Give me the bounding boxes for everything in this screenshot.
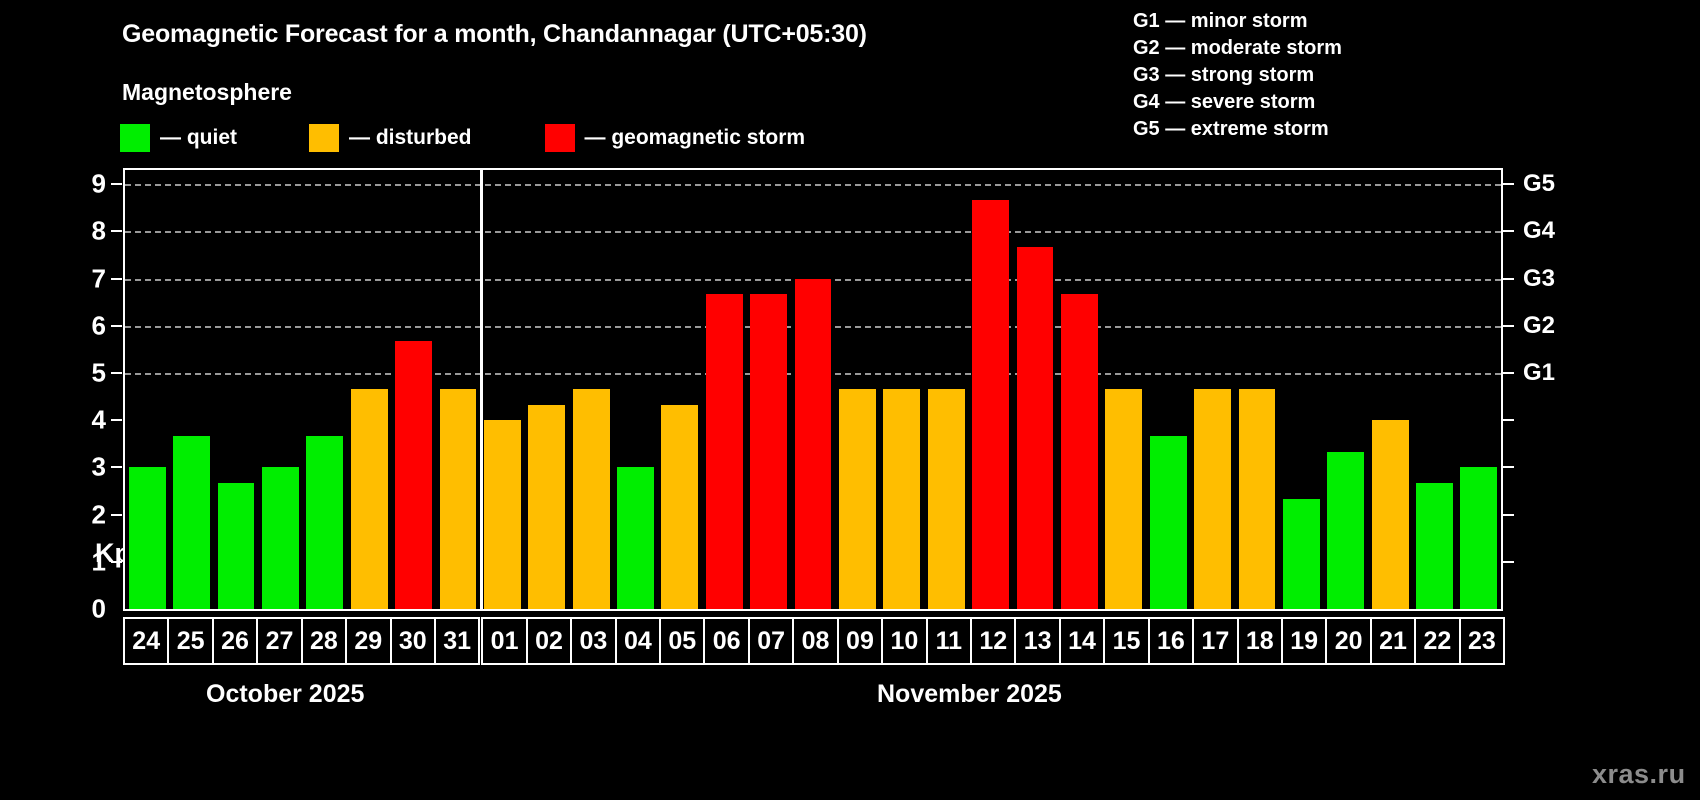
g-axis-minor-tick-3: [1503, 466, 1514, 468]
date-label: 23: [1468, 627, 1496, 656]
legend-swatch-storm: [545, 124, 575, 152]
date-label: 07: [757, 627, 785, 656]
date-label: 12: [979, 627, 1007, 656]
bar-cell: [1057, 170, 1101, 609]
bar-21[interactable]: [1372, 420, 1409, 609]
month-divider: [480, 170, 483, 609]
y-tick-label-0: 0: [92, 594, 106, 625]
bar-cell: [303, 170, 347, 609]
date-cell-08[interactable]: 08: [792, 617, 838, 665]
date-cell-01[interactable]: 01: [481, 617, 527, 665]
date-cell-06[interactable]: 06: [703, 617, 749, 665]
g-tick-mark-G3: [1503, 278, 1514, 280]
bar-20[interactable]: [1327, 452, 1364, 609]
g-tick-mark-G2: [1503, 325, 1514, 327]
bar-04[interactable]: [617, 467, 654, 609]
y-tick-mark-2: [111, 514, 122, 516]
chart-plot-area: [123, 168, 1503, 611]
bar-18[interactable]: [1239, 389, 1276, 609]
date-label: 28: [310, 627, 338, 656]
g-scale-row-g3: G3 — strong storm: [1133, 62, 1342, 89]
date-label: 10: [890, 627, 918, 656]
magnetosphere-label: Magnetosphere: [122, 79, 292, 106]
bar-15[interactable]: [1105, 389, 1142, 609]
date-cell-15[interactable]: 15: [1103, 617, 1149, 665]
legend-label-disturbed: — disturbed: [349, 126, 472, 150]
y-tick-label-8: 8: [92, 216, 106, 247]
date-cell-03[interactable]: 03: [570, 617, 616, 665]
y-tick-label-2: 2: [92, 499, 106, 530]
date-cell-17[interactable]: 17: [1192, 617, 1238, 665]
bar-cell: [1146, 170, 1190, 609]
date-label: 08: [802, 627, 830, 656]
bar-08[interactable]: [795, 279, 832, 609]
y-tick-mark-4: [111, 419, 122, 421]
date-cell-28[interactable]: 28: [301, 617, 347, 665]
date-cell-23[interactable]: 23: [1459, 617, 1505, 665]
bar-31[interactable]: [440, 389, 477, 609]
bar-10[interactable]: [883, 389, 920, 609]
bar-cell: [1412, 170, 1456, 609]
date-cell-02[interactable]: 02: [526, 617, 572, 665]
date-cell-13[interactable]: 13: [1014, 617, 1060, 665]
y-tick-label-3: 3: [92, 452, 106, 483]
bar-cell: [347, 170, 391, 609]
legend-swatch-disturbed: [309, 124, 339, 152]
bar-cell: [391, 170, 435, 609]
bar-cell: [880, 170, 924, 609]
date-cell-05[interactable]: 05: [659, 617, 705, 665]
bar-05[interactable]: [661, 405, 698, 609]
legend-swatch-quiet: [120, 124, 150, 152]
bar-cell: [525, 170, 569, 609]
date-label: 14: [1068, 627, 1096, 656]
month-caption-november: November 2025: [877, 680, 1062, 709]
g-scale-row-g5: G5 — extreme storm: [1133, 116, 1342, 143]
y-tick-label-1: 1: [92, 546, 106, 577]
date-cell-21[interactable]: 21: [1370, 617, 1416, 665]
date-label: 30: [399, 627, 427, 656]
date-label: 29: [354, 627, 382, 656]
bar-27[interactable]: [262, 467, 299, 609]
bar-cell: [924, 170, 968, 609]
legend-label-quiet: — quiet: [160, 126, 237, 150]
date-label: 26: [221, 627, 249, 656]
date-cell-30[interactable]: 30: [390, 617, 436, 665]
y-tick-mark-9: [111, 183, 122, 185]
date-cell-27[interactable]: 27: [256, 617, 302, 665]
g-tick-label-G2: G2: [1523, 312, 1555, 340]
watermark: xras.ru: [1592, 759, 1686, 790]
bar-series: [125, 170, 1501, 609]
date-label: 13: [1024, 627, 1052, 656]
legend-item-storm[interactable]: — geomagnetic storm: [545, 123, 806, 153]
date-cell-16[interactable]: 16: [1148, 617, 1194, 665]
bar-cell: [169, 170, 213, 609]
date-label: 24: [132, 627, 160, 656]
bar-11[interactable]: [928, 389, 965, 609]
bar-23[interactable]: [1460, 467, 1497, 609]
bar-cell: [1324, 170, 1368, 609]
legend-item-disturbed[interactable]: — disturbed: [309, 123, 472, 153]
date-label: 15: [1113, 627, 1141, 656]
g-axis-minor-tick-4: [1503, 419, 1514, 421]
y-tick-label-5: 5: [92, 357, 106, 388]
date-label: 21: [1379, 627, 1407, 656]
g-tick-mark-G4: [1503, 230, 1514, 232]
bar-cell: [258, 170, 302, 609]
g-scale-legend: G1 — minor storm G2 — moderate storm G3 …: [1133, 8, 1342, 143]
date-label: 22: [1424, 627, 1452, 656]
bar-13[interactable]: [1017, 247, 1054, 609]
date-label: 19: [1290, 627, 1318, 656]
date-label: 17: [1201, 627, 1229, 656]
date-label: 06: [713, 627, 741, 656]
date-cell-10[interactable]: 10: [881, 617, 927, 665]
date-cell-12[interactable]: 12: [970, 617, 1016, 665]
g-scale-row-g2: G2 — moderate storm: [1133, 35, 1342, 62]
bar-29[interactable]: [351, 389, 388, 609]
y-tick-label-6: 6: [92, 310, 106, 341]
bar-22[interactable]: [1416, 483, 1453, 609]
y-tick-mark-3: [111, 466, 122, 468]
g-axis-minor-tick-2: [1503, 514, 1514, 516]
bar-26[interactable]: [218, 483, 255, 609]
date-axis: 2425262728293031010203040506070809101112…: [123, 617, 1503, 665]
bar-cell: [702, 170, 746, 609]
bar-12[interactable]: [972, 200, 1009, 609]
y-tick-mark-8: [111, 230, 122, 232]
y-axis-kp: Kp 0123456789: [60, 168, 122, 611]
g-tick-mark-G5: [1503, 183, 1514, 185]
bar-cell: [658, 170, 702, 609]
bar-cell: [746, 170, 790, 609]
bar-cell: [835, 170, 879, 609]
date-label: 25: [177, 627, 205, 656]
date-label: 02: [535, 627, 563, 656]
date-cell-11[interactable]: 11: [926, 617, 972, 665]
bar-cell: [1235, 170, 1279, 609]
date-label: 01: [491, 627, 519, 656]
date-label: 04: [624, 627, 652, 656]
legend-label-storm: — geomagnetic storm: [585, 126, 806, 150]
bar-cell: [613, 170, 657, 609]
g-tick-label-G1: G1: [1523, 359, 1555, 387]
date-label: 05: [668, 627, 696, 656]
date-label: 16: [1157, 627, 1185, 656]
bar-cell: [480, 170, 524, 609]
bar-01[interactable]: [484, 420, 521, 609]
bar-cell: [968, 170, 1012, 609]
bar-17[interactable]: [1194, 389, 1231, 609]
date-cell-04[interactable]: 04: [615, 617, 661, 665]
y-tick-label-7: 7: [92, 263, 106, 294]
y-tick-mark-5: [111, 372, 122, 374]
bar-cell: [436, 170, 480, 609]
bar-03[interactable]: [573, 389, 610, 609]
date-label: 03: [580, 627, 608, 656]
color-legend: — quiet — disturbed — geomagnetic storm: [120, 123, 805, 153]
plot-inner: [125, 170, 1501, 609]
y-tick-mark-1: [111, 561, 122, 563]
bar-cell: [214, 170, 258, 609]
bar-07[interactable]: [750, 294, 787, 609]
date-cell-20[interactable]: 20: [1325, 617, 1371, 665]
y-tick-label-9: 9: [92, 169, 106, 200]
date-cell-07[interactable]: 07: [748, 617, 794, 665]
date-label: 18: [1246, 627, 1274, 656]
bar-28[interactable]: [306, 436, 343, 609]
date-label: 09: [846, 627, 874, 656]
g-scale-row-g1: G1 — minor storm: [1133, 8, 1342, 35]
date-cell-26[interactable]: 26: [212, 617, 258, 665]
bar-cell: [1190, 170, 1234, 609]
bar-09[interactable]: [839, 389, 876, 609]
y-axis-g-scale: G1G2G3G4G5: [1503, 168, 1623, 611]
date-cell-22[interactable]: 22: [1414, 617, 1460, 665]
g-tick-label-G5: G5: [1523, 170, 1555, 198]
bar-cell: [791, 170, 835, 609]
bar-06[interactable]: [706, 294, 743, 609]
legend-item-quiet[interactable]: — quiet: [120, 123, 237, 153]
date-cell-25[interactable]: 25: [167, 617, 213, 665]
date-label: 27: [266, 627, 294, 656]
bar-cell: [1102, 170, 1146, 609]
bar-24[interactable]: [129, 467, 166, 609]
date-cell-19[interactable]: 19: [1281, 617, 1327, 665]
bar-cell: [1457, 170, 1501, 609]
bar-14[interactable]: [1061, 294, 1098, 609]
g-scale-row-g4: G4 — severe storm: [1133, 89, 1342, 116]
g-tick-label-G3: G3: [1523, 265, 1555, 293]
bar-cell: [1368, 170, 1412, 609]
g-tick-mark-G1: [1503, 372, 1514, 374]
bar-cell: [125, 170, 169, 609]
page-title: Geomagnetic Forecast for a month, Chanda…: [122, 20, 867, 49]
bar-cell: [1013, 170, 1057, 609]
date-cell-09[interactable]: 09: [837, 617, 883, 665]
date-label: 11: [936, 627, 962, 656]
bar-19[interactable]: [1283, 499, 1320, 609]
bar-cell: [1279, 170, 1323, 609]
y-tick-mark-6: [111, 325, 122, 327]
g-tick-label-G4: G4: [1523, 217, 1555, 245]
g-axis-minor-tick-1: [1503, 561, 1514, 563]
month-caption-october: October 2025: [206, 680, 364, 709]
date-cell-29[interactable]: 29: [345, 617, 391, 665]
bar-30[interactable]: [395, 341, 432, 609]
bar-25[interactable]: [173, 436, 210, 609]
y-tick-label-4: 4: [92, 405, 106, 436]
bar-02[interactable]: [528, 405, 565, 609]
date-label: 20: [1335, 627, 1363, 656]
date-cell-14[interactable]: 14: [1059, 617, 1105, 665]
y-tick-mark-7: [111, 278, 122, 280]
date-cell-24[interactable]: 24: [123, 617, 169, 665]
bar-16[interactable]: [1150, 436, 1187, 609]
date-cell-31[interactable]: 31: [434, 617, 480, 665]
date-cell-18[interactable]: 18: [1237, 617, 1283, 665]
bar-cell: [569, 170, 613, 609]
date-label: 31: [443, 627, 471, 656]
